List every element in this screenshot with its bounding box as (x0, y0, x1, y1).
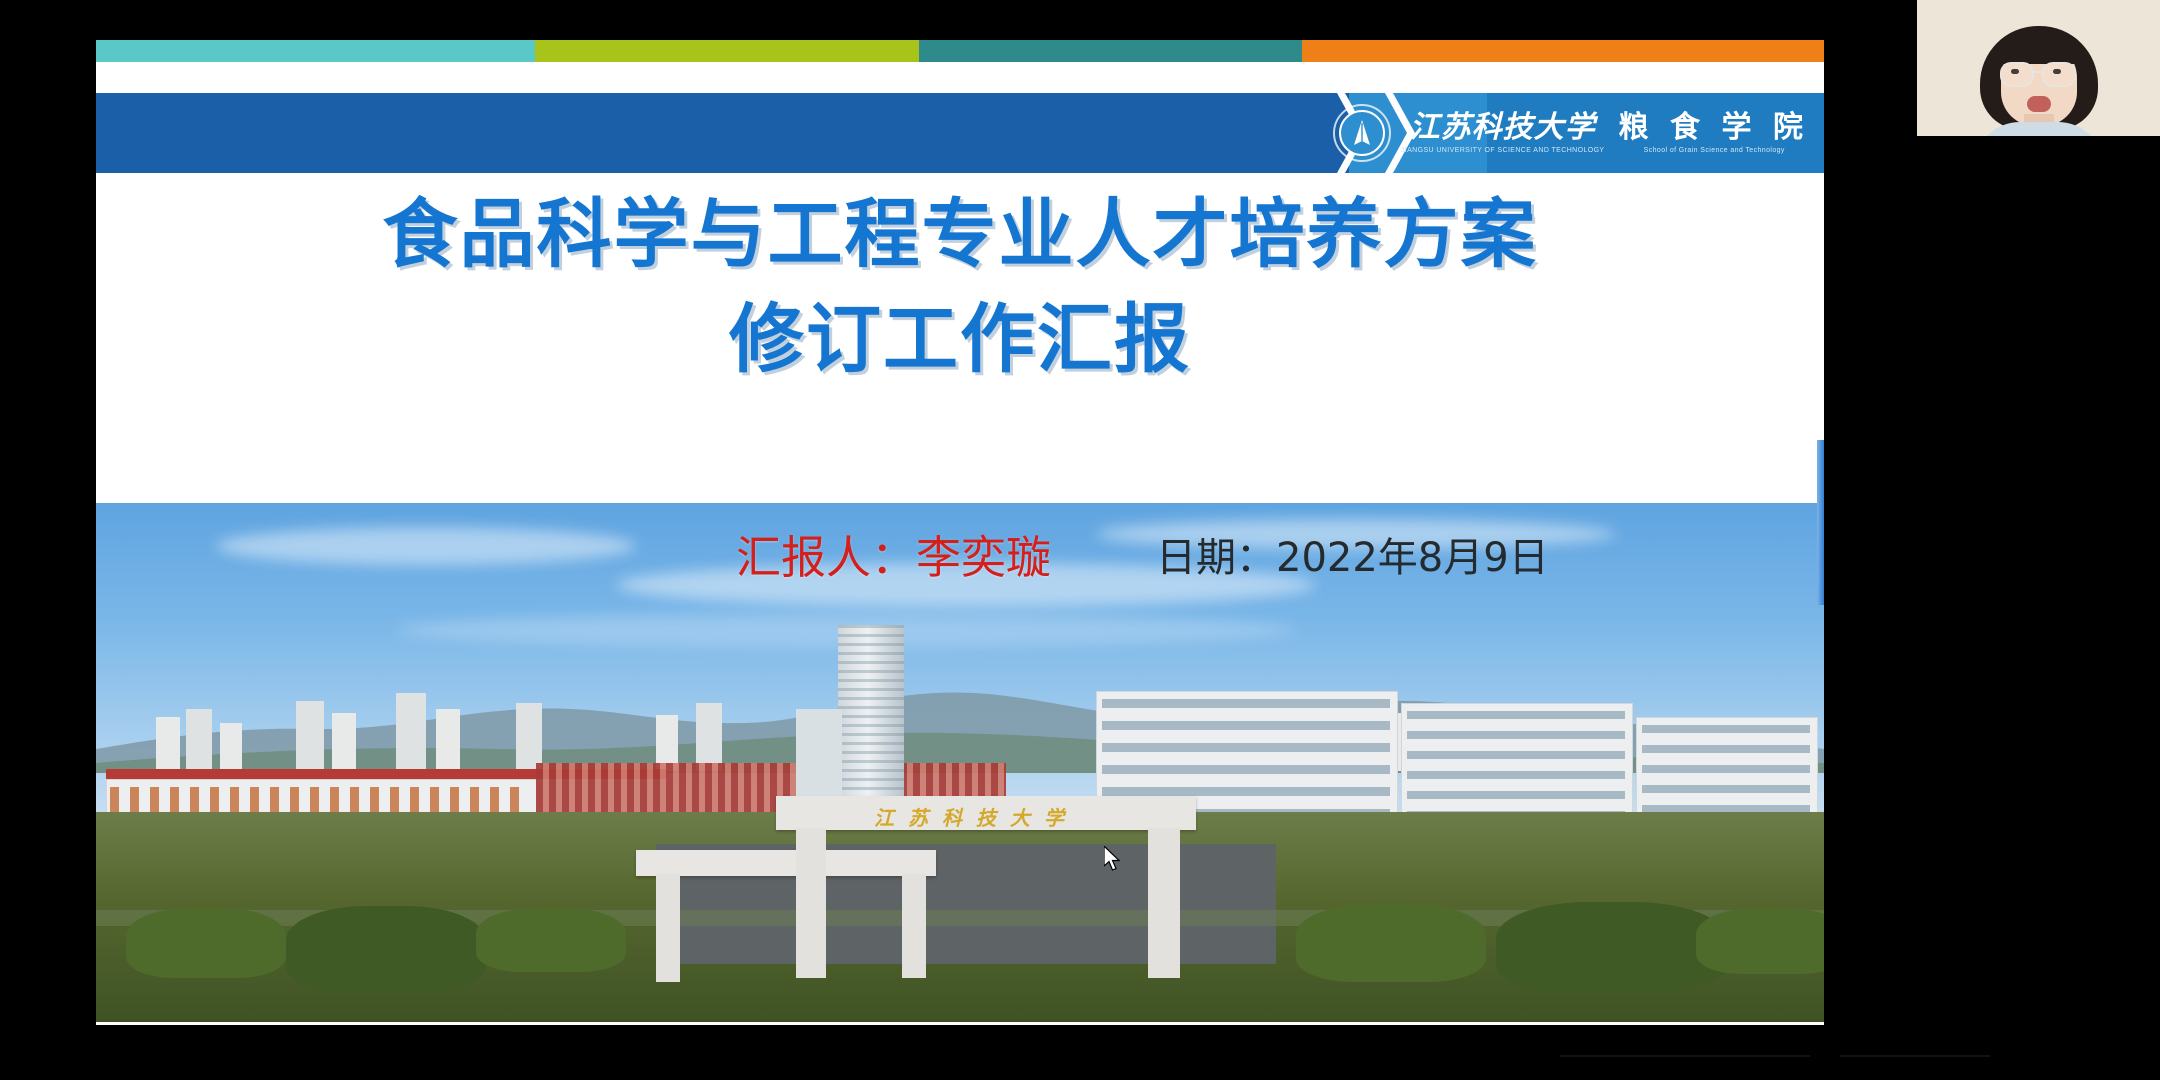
logo-school-cn: 粮 食 学 院 (1619, 113, 1811, 143)
presenter-label: 汇报人：李奕璇 (736, 521, 1051, 586)
slide-title-line2: 修订工作汇报 (96, 295, 1824, 384)
color-bar-segment-deep-teal (919, 40, 1303, 62)
logo-university-en: JIANGSU UNIVERSITY OF SCIENCE AND TECHNO… (1401, 147, 1605, 154)
logo-university-cn: 江苏科技大学 (1410, 113, 1596, 143)
university-logo: 江苏科技大学 JIANGSU UNIVERSITY OF SCIENCE AND… (1333, 93, 1816, 173)
slide-meta-row: 汇报人：李奕璇 日期：2022年8月9日 (96, 521, 1824, 591)
webcam-presenter-figure (1980, 26, 2098, 136)
university-seal-icon (1333, 104, 1391, 162)
campus-photo: 江苏科技大学 汇报人：李奕璇 日期：2022年8月9日 (96, 503, 1824, 1022)
gate-text: 江苏科技大学 (874, 802, 1078, 831)
logo-school-en: School of Grain Science and Technology (1644, 147, 1785, 154)
color-bar-segment-lime (535, 40, 919, 62)
color-bar-segment-teal (96, 40, 535, 62)
slide-title-block: 食品科学与工程专业人才培养方案 修订工作汇报 (96, 190, 1824, 383)
glasses-icon (2000, 62, 2034, 87)
webcam-video-panel[interactable] (1917, 0, 2160, 136)
header-dark-band (96, 93, 1349, 173)
screen-root: 江苏科技大学 JIANGSU UNIVERSITY OF SCIENCE AND… (0, 0, 2160, 1080)
bottom-toolbar-line-1 (1560, 1055, 1810, 1057)
slide-right-edge-accent (1817, 440, 1824, 605)
bottom-toolbar-line-2 (1840, 1055, 1990, 1057)
slide-canvas[interactable]: 江苏科技大学 JIANGSU UNIVERSITY OF SCIENCE AND… (96, 40, 1824, 1025)
campus-gate: 江苏科技大学 (636, 778, 1196, 988)
top-color-bar (96, 40, 1824, 62)
date-label: 日期：2022年8月9日 (1156, 525, 1549, 583)
color-bar-segment-orange (1302, 40, 1824, 62)
slide-title-line1: 食品科学与工程专业人才培养方案 (96, 190, 1824, 279)
